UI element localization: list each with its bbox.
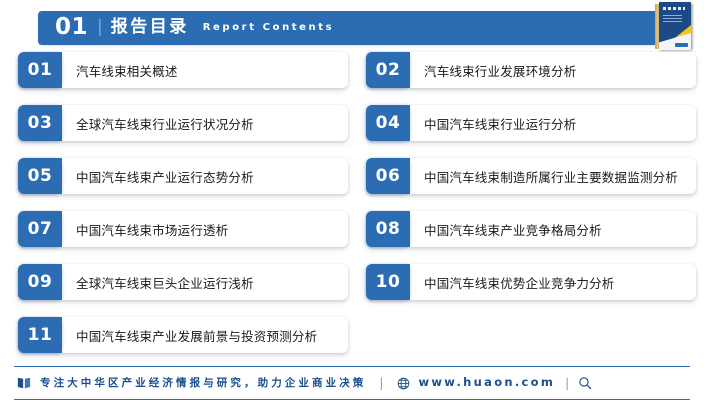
list-item[interactable]: 01 汽车线束相关概述 (18, 52, 348, 88)
list-item[interactable]: 07 中国汽车线束市场运行透析 (18, 211, 348, 247)
list-item-number: 07 (18, 211, 62, 247)
book-page-edge (691, 4, 694, 49)
list-item[interactable]: 10 中国汽车线束优势企业竞争力分析 (366, 264, 696, 300)
list-item-number: 03 (18, 105, 62, 141)
book-cover-subtitle-lines (663, 15, 682, 22)
page-footer: 专注大中华区产业经济情报与研究，助力企业商业决策 | www.huaon.com… (0, 366, 704, 400)
search-icon[interactable] (578, 376, 592, 390)
contents-list: 01 汽车线束相关概述 03 全球汽车线束行业运行状况分析 05 中国汽车线束产… (0, 52, 704, 362)
list-item[interactable]: 04 中国汽车线束行业运行分析 (366, 105, 696, 141)
list-item-number: 01 (18, 52, 62, 88)
list-item-number: 05 (18, 158, 62, 194)
list-item[interactable]: 08 中国汽车线束产业竞争格局分析 (366, 211, 696, 247)
list-item-number: 11 (18, 317, 62, 353)
report-book-icon (655, 2, 695, 51)
list-item-number: 06 (366, 158, 410, 194)
globe-icon (397, 377, 410, 390)
footer-slogan: 专注大中华区产业经济情报与研究，助力企业商业决策 (40, 378, 366, 389)
list-item[interactable]: 05 中国汽车线束产业运行态势分析 (18, 158, 348, 194)
page-header: 01 | 报告目录 Report Contents (0, 11, 704, 49)
header-bar: 01 | 报告目录 Report Contents (38, 11, 656, 45)
book-cover-logo (675, 43, 688, 47)
list-item[interactable]: 06 中国汽车线束制造所属行业主要数据监测分析 (366, 158, 696, 194)
book-cover (659, 2, 691, 50)
page-title-english: Report Contents (203, 23, 334, 34)
footer-website-url[interactable]: www.huaon.com (418, 377, 555, 389)
contents-right-column: 02 汽车线束行业发展环境分析 04 中国汽车线束行业运行分析 06 中国汽车线… (366, 52, 696, 317)
list-item-label: 全球汽车线束巨头企业运行浅析 (76, 264, 254, 300)
book-cover-title-lines (663, 7, 685, 10)
list-item[interactable]: 02 汽车线束行业发展环境分析 (366, 52, 696, 88)
footer-divider-1: | (379, 377, 383, 389)
list-item-label: 中国汽车线束优势企业竞争力分析 (424, 264, 615, 300)
list-item-label: 中国汽车线束产业发展前景与投资预测分析 (76, 317, 317, 353)
contents-left-column: 01 汽车线束相关概述 03 全球汽车线束行业运行状况分析 05 中国汽车线束产… (18, 52, 348, 370)
footer-divider-2: | (565, 377, 569, 389)
list-item-label: 汽车线束行业发展环境分析 (424, 52, 576, 88)
list-item-number: 09 (18, 264, 62, 300)
list-item-label: 汽车线束相关概述 (76, 52, 178, 88)
list-item-number: 10 (366, 264, 410, 300)
list-item[interactable]: 09 全球汽车线束巨头企业运行浅析 (18, 264, 348, 300)
list-item-card[interactable] (18, 52, 348, 88)
list-item-number: 04 (366, 105, 410, 141)
page-title: 报告目录 (111, 19, 189, 37)
list-item-number: 08 (366, 211, 410, 247)
list-item-label: 全球汽车线束行业运行状况分析 (76, 105, 254, 141)
list-item[interactable]: 11 中国汽车线束产业发展前景与投资预测分析 (18, 317, 348, 353)
list-item-label: 中国汽车线束行业运行分析 (424, 105, 576, 141)
header-separator: | (97, 19, 103, 38)
list-item-number: 02 (366, 52, 410, 88)
open-book-icon (17, 376, 31, 390)
list-item-label: 中国汽车线束产业竞争格局分析 (424, 211, 602, 247)
list-item-label: 中国汽车线束产业运行态势分析 (76, 158, 254, 194)
list-item-label: 中国汽车线束制造所属行业主要数据监测分析 (424, 158, 678, 194)
header-section-number: 01 (55, 16, 88, 41)
list-item-label: 中国汽车线束市场运行透析 (76, 211, 228, 247)
list-item[interactable]: 03 全球汽车线束行业运行状况分析 (18, 105, 348, 141)
